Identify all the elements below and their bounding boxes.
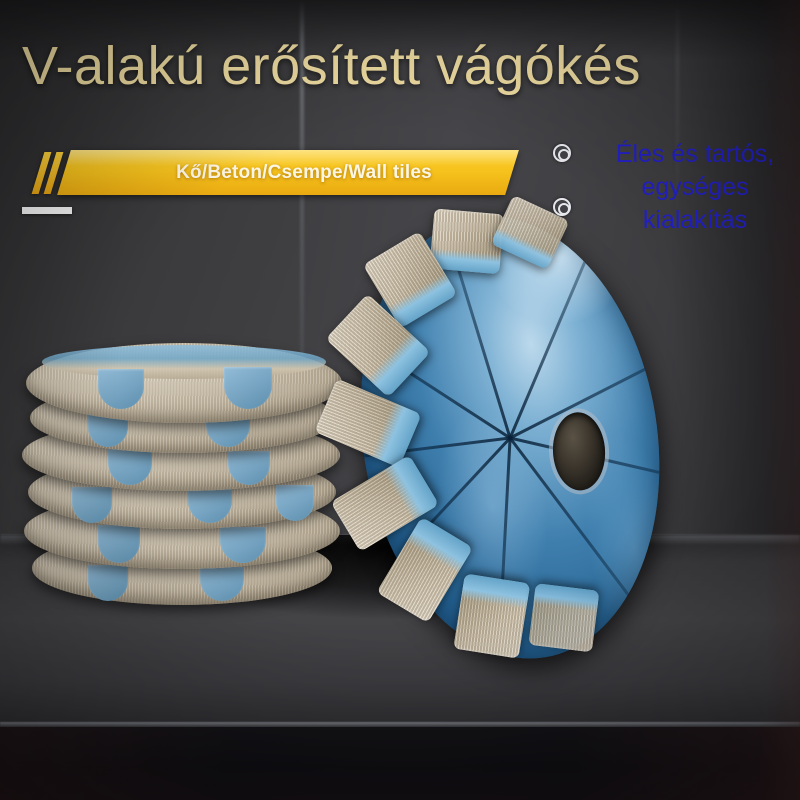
concentric-circle-icon	[553, 144, 571, 162]
blade-segment	[453, 573, 530, 658]
concentric-circle-icon	[553, 198, 571, 216]
blade-disc-top	[26, 343, 342, 423]
materials-banner: Kő/Beton/Csempe/Wall tiles	[34, 150, 514, 196]
product-banner-stage: V-alakú erősített vágókés Kő/Beton/Csemp…	[0, 0, 800, 800]
feature-text: Éles és tartós, egységes kialakítás	[595, 138, 795, 237]
stacked-diamond-blades	[18, 335, 388, 625]
white-rule-accent	[22, 207, 72, 214]
banner-label: Kő/Beton/Csempe/Wall tiles	[94, 150, 514, 195]
page-title: V-alakú erősített vágókés	[22, 38, 762, 95]
feature-bullet-list	[553, 144, 587, 252]
background-edge-tint	[760, 0, 800, 800]
disc-top-rim	[42, 345, 326, 379]
blade-segment	[528, 583, 599, 652]
floor-color-tint	[0, 727, 800, 800]
